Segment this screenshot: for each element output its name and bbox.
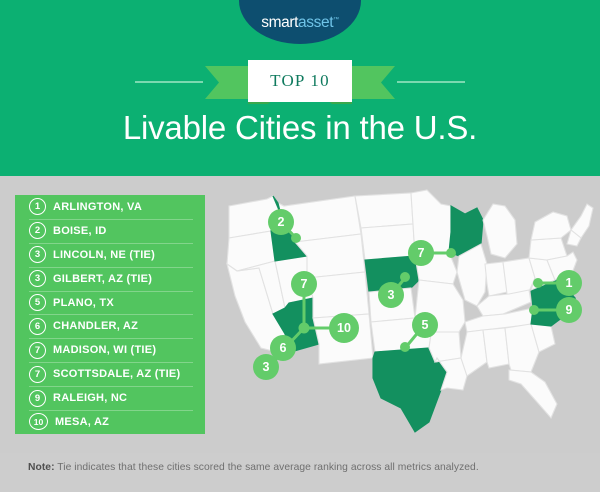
us-map: 2 7 3 1 9 7 10 6 3 5 — [215, 176, 600, 453]
footer-note-label: Note: — [28, 462, 55, 473]
rank-label: GILBERT, AZ (TIE) — [53, 273, 152, 285]
infographic-root: smartasset™ TOP 10 Livable Cities in the… — [0, 0, 600, 492]
list-item[interactable]: 7 SCOTTSDALE, AZ (TIE) — [15, 362, 205, 386]
rank-badge: 2 — [29, 222, 46, 239]
map-marker-mesa[interactable]: 10 — [329, 313, 359, 343]
map-marker-label: 3 — [263, 360, 270, 374]
map-marker-label: 1 — [566, 276, 573, 290]
footer-note-body: Tie indicates that these cities scored t… — [55, 462, 479, 473]
map-marker-madison[interactable]: 7 — [408, 240, 434, 266]
rank-label: SCOTTSDALE, AZ (TIE) — [53, 368, 180, 380]
map-marker-label: 9 — [566, 303, 573, 317]
rank-label: ARLINGTON, VA — [53, 201, 142, 213]
list-item[interactable]: 6 CHANDLER, AZ — [15, 314, 205, 338]
rank-badge: 1 — [29, 198, 46, 215]
map-marker-label: 5 — [422, 318, 429, 332]
rank-badge: 9 — [29, 390, 46, 407]
list-item[interactable]: 1 ARLINGTON, VA — [15, 195, 205, 219]
rank-label: MADISON, WI (TIE) — [53, 344, 156, 356]
rank-label: BOISE, ID — [53, 225, 107, 237]
map-marker-boise[interactable]: 2 — [268, 209, 294, 235]
header-banner: smartasset™ TOP 10 Livable Cities in the… — [0, 0, 600, 176]
ranking-list: 1 ARLINGTON, VA 2 BOISE, ID 3 LINCOLN, N… — [15, 195, 205, 434]
logo-primary-text: smart — [261, 14, 298, 31]
list-item[interactable]: 5 PLANO, TX — [15, 291, 205, 315]
map-marker-label: 6 — [280, 341, 287, 355]
logo-text: smartasset™ — [261, 14, 338, 44]
map-marker-arlington[interactable]: 1 — [556, 270, 582, 296]
map-marker-scottsdale[interactable]: 7 — [291, 271, 317, 297]
ribbon-label: TOP 10 — [270, 71, 330, 91]
footer-note: Note: Tie indicates that these cities sc… — [28, 462, 479, 473]
body-area: 1 ARLINGTON, VA 2 BOISE, ID 3 LINCOLN, N… — [0, 176, 600, 453]
map-marker-raleigh[interactable]: 9 — [556, 297, 582, 323]
rank-label: LINCOLN, NE (TIE) — [53, 249, 155, 261]
map-marker-lincoln[interactable]: 3 — [378, 282, 404, 308]
map-marker-label: 2 — [278, 215, 285, 229]
rank-badge: 7 — [29, 342, 46, 359]
map-marker-plano[interactable]: 5 — [412, 312, 438, 338]
rank-label: PLANO, TX — [53, 297, 114, 309]
map-marker-label: 10 — [337, 321, 351, 335]
rank-label: MESA, AZ — [55, 416, 109, 428]
map-marker-label: 7 — [301, 277, 308, 291]
list-item[interactable]: 3 GILBERT, AZ (TIE) — [15, 267, 205, 291]
ribbon-rule-right — [397, 81, 465, 83]
rank-badge: 3 — [29, 270, 46, 287]
footer-note-bar: Note: Tie indicates that these cities sc… — [0, 453, 600, 492]
rank-badge: 7 — [29, 366, 46, 383]
ribbon-plate: TOP 10 — [248, 60, 352, 102]
ribbon-rule-left — [135, 81, 203, 83]
rank-label: RALEIGH, NC — [53, 392, 127, 404]
map-marker-label: 3 — [388, 288, 395, 302]
page-title: Livable Cities in the U.S. — [0, 108, 600, 148]
list-item[interactable]: 10 MESA, AZ — [15, 410, 205, 434]
list-item[interactable]: 7 MADISON, WI (TIE) — [15, 338, 205, 362]
logo-secondary-text: asset — [298, 14, 333, 31]
rank-label: CHANDLER, AZ — [53, 320, 138, 332]
rank-badge: 3 — [29, 246, 46, 263]
trademark-icon: ™ — [333, 17, 339, 23]
map-marker-label: 7 — [418, 246, 425, 260]
list-item[interactable]: 3 LINCOLN, NE (TIE) — [15, 243, 205, 267]
rank-badge: 6 — [29, 318, 46, 335]
rank-badge: 5 — [29, 294, 46, 311]
rank-badge: 10 — [29, 413, 48, 430]
map-marker-gilbert[interactable]: 3 — [253, 354, 279, 380]
list-item[interactable]: 9 RALEIGH, NC — [15, 386, 205, 410]
ranking-panel: 1 ARLINGTON, VA 2 BOISE, ID 3 LINCOLN, N… — [15, 195, 205, 434]
top10-ribbon: TOP 10 — [0, 60, 600, 104]
list-item[interactable]: 2 BOISE, ID — [15, 219, 205, 243]
smartasset-logo[interactable]: smartasset™ — [239, 0, 361, 44]
